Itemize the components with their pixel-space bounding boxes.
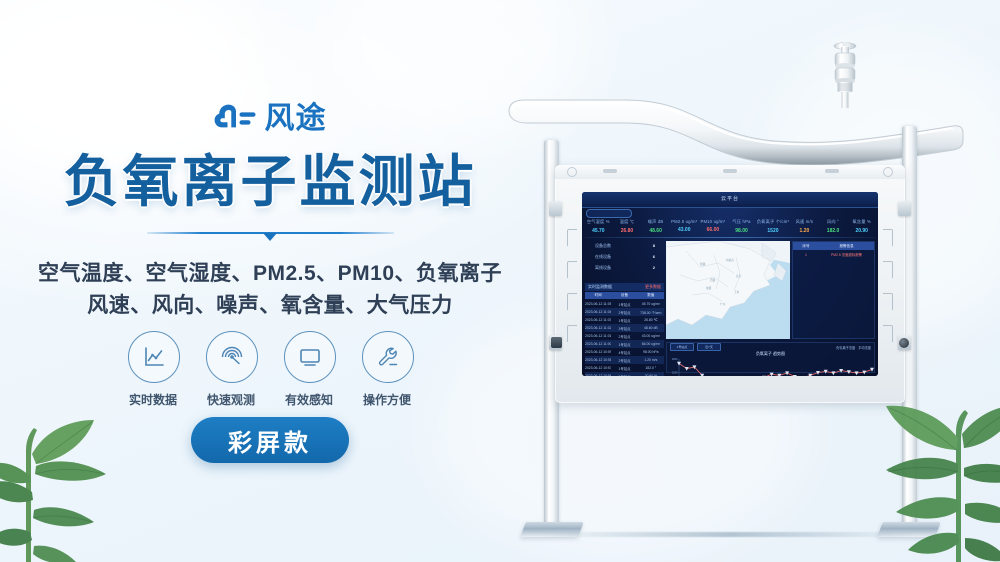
cabinet-tab xyxy=(603,169,617,173)
metric-value: 1.20 xyxy=(791,228,818,234)
cabinet-vent xyxy=(883,229,893,246)
cabinet-lock-left[interactable] xyxy=(551,337,562,348)
divider-line xyxy=(147,232,394,234)
monitoring-station-kiosk: 云平台 空气湿度 %45.70温度 ℃26.80噪声 dB48.60PM2.5 … xyxy=(505,40,975,540)
table-row[interactable]: 2023-06-12 11:03:021号站点26.80 ℃ xyxy=(585,316,664,324)
wave-canopy xyxy=(505,97,965,169)
table-column-header: 数值 xyxy=(638,293,664,298)
chart-legend-2: 平均浓度 xyxy=(858,345,871,350)
table-row[interactable]: 2023-06-12 10:59:044号站点98.00 hPa xyxy=(585,348,664,356)
table-cell: 2023-06-12 11:02:45 xyxy=(585,326,611,330)
feature-list: 实时数据 快速观测 xyxy=(0,331,540,408)
table-cell: 98.00 hPa xyxy=(638,350,664,354)
stat-row: 在线设备6 xyxy=(591,254,659,260)
radar-sensor-icon xyxy=(219,344,245,370)
metric-key: 气压 hPa xyxy=(728,219,755,225)
station-selector[interactable] xyxy=(586,209,632,218)
subtitle-line-1: 空气温度、空气湿度、PM2.5、PM10、负氧离子 xyxy=(0,258,540,290)
table-cell: 1.20 m/s xyxy=(638,358,664,362)
cabinet-vent xyxy=(883,261,893,278)
cabinet-vent xyxy=(883,325,893,342)
stat-row: 离线设备2 xyxy=(591,265,659,271)
metric-card: 空气湿度 %45.70 xyxy=(585,219,612,234)
chart-legend-1: 负氧离子浓度 xyxy=(836,345,855,350)
chart-toolbar: 1号站点 近7天 负氧离子浓度 平均浓度 xyxy=(667,343,874,351)
cabinet-vent xyxy=(567,261,577,278)
monitoring-dashboard: 云平台 空气湿度 %45.70温度 ℃26.80噪声 dB48.60PM2.5 … xyxy=(582,192,878,376)
cabinet-tab xyxy=(825,169,839,173)
metric-card: 氧含量 %20.90 xyxy=(848,219,875,234)
ground-shadow xyxy=(545,532,915,537)
svg-text:西藏: 西藏 xyxy=(710,278,716,282)
brand-name: 风途 xyxy=(265,104,327,134)
metric-card: PM10 ug/m³66.00 xyxy=(700,219,727,234)
metric-value: 1520 xyxy=(757,228,789,234)
monitor-screen-icon xyxy=(297,344,323,370)
metric-value: 98.00 xyxy=(728,228,755,234)
feature-label: 实时数据 xyxy=(128,391,178,408)
alerts-header: 序号报警信息 xyxy=(793,242,874,250)
table-cell: 66.00 ug/m³ xyxy=(638,342,664,346)
table-cell: 182.0 ° xyxy=(638,366,664,370)
alerts-body: 1PM2.5 浓度超标报警 xyxy=(793,250,874,259)
feature-item-easy-operation: 操作方便 xyxy=(362,331,412,408)
stat-label: 离线设备 xyxy=(595,265,611,271)
cabinet-tab xyxy=(723,169,737,173)
metric-value: 20.90 xyxy=(848,228,875,234)
metric-card: 风向 °182.0 xyxy=(820,219,847,234)
chart-station-select[interactable]: 1号站点 xyxy=(670,343,694,351)
divider-triangle-icon xyxy=(263,233,277,241)
cabinet-mount-hole xyxy=(567,167,577,177)
stat-label: 在线设备 xyxy=(595,254,611,260)
stat-value: 8 xyxy=(653,243,655,249)
color-screen-model-button[interactable]: 彩屏款 xyxy=(191,417,349,463)
cabinet-mount-hole xyxy=(883,167,893,177)
table-row[interactable]: 2023-06-12 10:56:403号站点20.90 % xyxy=(585,372,664,376)
metric-key: 温度 ℃ xyxy=(614,219,641,225)
metric-key: 风速 m/s xyxy=(791,219,818,225)
china-map[interactable]: 新疆西藏 内蒙古北京 上海广州 成都 xyxy=(666,241,790,339)
stat-row: 设备总数8 xyxy=(591,243,659,249)
table-cell: 45.70 ug/m³ xyxy=(638,302,664,306)
table-row[interactable]: 2023-06-12 10:58:222号站点1.20 m/s xyxy=(585,356,664,364)
feature-item-effective-sensing: 有效感知 xyxy=(284,331,334,408)
table-cell: 1号站点 xyxy=(611,366,637,371)
table-row[interactable]: 2023-06-12 11:00:111号站点66.00 ug/m³ xyxy=(585,340,664,348)
table-cell: 48.60 dB xyxy=(638,326,664,330)
metric-card: PM2.5 ug/m³43.00 xyxy=(671,219,698,234)
fengtu-cloud-logo-icon xyxy=(214,104,256,134)
product-banner: 风途 负氧离子监测站 空气温度、空气湿度、PM2.5、PM10、负氧离子 风速、… xyxy=(0,0,1000,562)
table-cell: 2023-06-12 11:00:11 xyxy=(585,342,611,346)
table-cell: 2023-06-12 11:03:02 xyxy=(585,318,611,322)
feature-label: 操作方便 xyxy=(362,391,412,408)
table-cell: 2号站点 xyxy=(611,358,637,363)
table-header-bar: 实时监测数据 更多数据 xyxy=(585,283,664,291)
alert-row[interactable]: 1PM2.5 浓度超标报警 xyxy=(793,250,874,259)
cabinet-vent xyxy=(567,229,577,246)
metric-value: 26.80 xyxy=(614,228,641,234)
metric-key: 负氧离子 个/cm³ xyxy=(757,219,789,225)
hero-text-column: 风途 负氧离子监测站 空气温度、空气湿度、PM2.5、PM10、负氧离子 风速、… xyxy=(0,0,540,562)
metric-value: 66.00 xyxy=(700,227,727,233)
metric-key: 噪声 dB xyxy=(642,219,669,225)
table-cell: 2023-06-12 10:56:40 xyxy=(585,374,611,376)
table-cell: 738.00 个/cm³ xyxy=(638,310,664,315)
table-title: 实时监测数据 xyxy=(588,284,612,290)
stat-value: 6 xyxy=(653,254,655,260)
table-row[interactable]: 2023-06-12 11:05:211号站点45.70 ug/m³ xyxy=(585,300,664,308)
table-column-header: 时间 xyxy=(585,293,611,298)
table-row[interactable]: 2023-06-12 10:57:131号站点182.0 ° xyxy=(585,364,664,372)
chart-range-select[interactable]: 近7天 xyxy=(697,343,721,351)
svg-text:成都: 成都 xyxy=(706,286,712,290)
table-cell: 20.90 % xyxy=(638,374,664,376)
table-cell: 1号站点 xyxy=(611,342,637,347)
title-divider xyxy=(0,232,540,234)
trend-chart-panel: 1号站点 近7天 负氧离子浓度 平均浓度 负氧离子 趋势图 06-0506-06… xyxy=(666,342,875,373)
cabinet-hinge-right-top xyxy=(898,201,911,216)
table-cell: 4号站点 xyxy=(611,350,637,355)
metric-key: 风向 ° xyxy=(820,219,847,225)
table-cell: 26.80 ℃ xyxy=(638,318,664,322)
table-cell: 1号站点 xyxy=(611,302,637,307)
table-row[interactable]: 2023-06-12 11:02:453号站点48.60 dB xyxy=(585,324,664,332)
cabinet-hinge-left-top xyxy=(549,201,562,216)
lcd-screen[interactable]: 云平台 空气湿度 %45.70温度 ℃26.80噪声 dB48.60PM2.5 … xyxy=(582,192,878,376)
feature-icon-circle xyxy=(128,331,180,383)
dashboard-header: 云平台 xyxy=(582,192,878,208)
metric-value: 48.60 xyxy=(642,228,669,234)
table-row[interactable]: 2023-06-12 11:04:182号站点738.00 个/cm³ xyxy=(585,308,664,316)
metric-value: 182.0 xyxy=(820,228,847,234)
metric-key: 氧含量 % xyxy=(848,219,875,225)
table-cell: 3号站点 xyxy=(611,374,637,377)
feature-icon-circle xyxy=(362,331,414,383)
metric-key: 空气湿度 % xyxy=(585,219,612,225)
device-stats: 设备总数8在线设备6离线设备2 xyxy=(591,243,659,279)
wrench-icon xyxy=(375,344,401,370)
cabinet-vent xyxy=(567,293,577,310)
table-cell: 2023-06-12 10:59:04 xyxy=(585,350,611,354)
brand-logo: 风途 xyxy=(0,104,540,134)
svg-text:北京: 北京 xyxy=(736,274,742,278)
stat-label: 设备总数 xyxy=(595,243,611,249)
alert-cell: 1 xyxy=(793,253,819,257)
feature-label: 快速观测 xyxy=(206,391,256,408)
feature-item-fast-observation: 快速观测 xyxy=(206,331,256,408)
alerts-column-header: 报警信息 xyxy=(819,244,874,249)
hero-subtitle: 空气温度、空气湿度、PM2.5、PM10、负氧离子 风速、风向、噪声、氧含量、大… xyxy=(0,258,540,321)
metric-key: PM10 ug/m³ xyxy=(700,219,727,224)
stat-value: 2 xyxy=(653,265,655,271)
table-column-header: 设备 xyxy=(611,293,637,298)
dashboard-title: 云平台 xyxy=(721,195,739,202)
cta-row: 彩屏款 xyxy=(0,417,540,463)
metric-value: 45.70 xyxy=(585,228,612,234)
table-cell: 3号站点 xyxy=(611,326,637,331)
feature-icon-circle xyxy=(206,331,258,383)
cabinet-vent xyxy=(567,325,577,342)
cabinet-lock-right[interactable] xyxy=(899,338,909,348)
table-cell: 43.00 ug/m³ xyxy=(638,334,664,338)
svg-text:1320: 1320 xyxy=(672,371,678,375)
metric-card: 负氧离子 个/cm³1520 xyxy=(757,219,789,234)
left-panel: 设备总数8在线设备6离线设备2 实时监测数据 更多数据 时间设备数值 2023-… xyxy=(585,241,664,373)
table-cell: 2号站点 xyxy=(611,334,637,339)
svg-text:上海: 上海 xyxy=(734,290,740,294)
alerts-column-header: 序号 xyxy=(793,244,819,249)
table-cell: 1号站点 xyxy=(611,318,637,323)
metric-strip: 空气湿度 %45.70温度 ℃26.80噪声 dB48.60PM2.5 ug/m… xyxy=(585,219,875,234)
metric-card: 风速 m/s1.20 xyxy=(791,219,818,234)
alerts-panel: 序号报警信息 1PM2.5 浓度超标报警 xyxy=(792,241,875,339)
table-cell: 2023-06-12 10:57:13 xyxy=(585,366,611,370)
table-column-headers: 时间设备数值 xyxy=(585,292,664,299)
metric-divider xyxy=(585,237,875,238)
table-cell: 2023-06-12 11:01:30 xyxy=(585,334,611,338)
table-cell: 2023-06-12 10:58:22 xyxy=(585,358,611,362)
feature-label: 有效感知 xyxy=(284,391,334,408)
alert-cell: PM2.5 浓度超标报警 xyxy=(819,252,874,257)
metric-card: 温度 ℃26.80 xyxy=(614,219,641,234)
feature-item-realtime-data: 实时数据 xyxy=(128,331,178,408)
subtitle-line-2: 风速、风向、噪声、氧含量、大气压力 xyxy=(0,290,540,322)
svg-text:新疆: 新疆 xyxy=(700,262,706,266)
cabinet-vent xyxy=(883,293,893,310)
line-chart-icon xyxy=(141,344,167,370)
table-cell: 2023-06-12 11:05:21 xyxy=(585,302,611,306)
metric-card: 噪声 dB48.60 xyxy=(642,219,669,234)
metric-key: PM2.5 ug/m³ xyxy=(671,219,698,224)
table-cell: 2023-06-12 11:04:18 xyxy=(585,310,611,314)
table-row[interactable]: 2023-06-12 11:01:302号站点43.00 ug/m³ xyxy=(585,332,664,340)
metric-card: 气压 hPa98.00 xyxy=(728,219,755,234)
display-cabinet: 云平台 空气湿度 %45.70温度 ℃26.80噪声 dB48.60PM2.5 … xyxy=(555,165,905,403)
svg-text:广州: 广州 xyxy=(720,302,726,306)
page-title: 负氧离子监测站 xyxy=(0,152,540,212)
table-cell: 2号站点 xyxy=(611,310,637,315)
table-more-link[interactable]: 更多数据 xyxy=(645,284,661,290)
metric-value: 43.00 xyxy=(671,227,698,233)
svg-text:2000: 2000 xyxy=(672,357,678,361)
feature-icon-circle xyxy=(284,331,336,383)
trend-line-chart: 06-0506-0606-0706-0806-0906-1006-1106-12… xyxy=(667,355,876,376)
svg-text:内蒙古: 内蒙古 xyxy=(726,258,734,262)
